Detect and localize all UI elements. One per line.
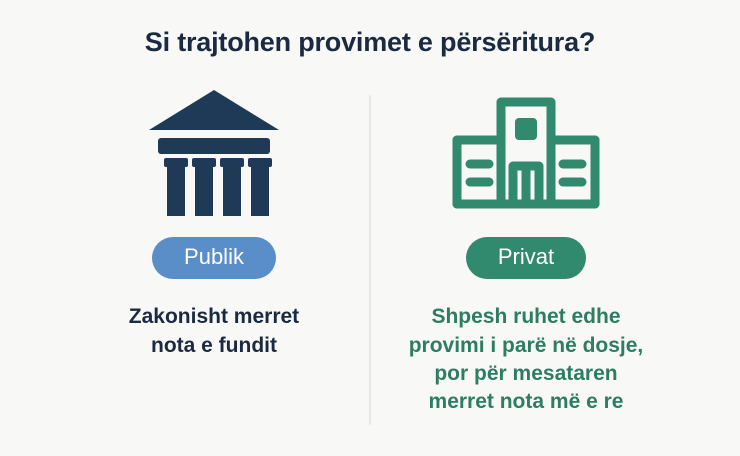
infographic-canvas: Si trajtohen provimet e përsëritura? [0,0,740,456]
private-description: Shpesh ruhet edhe provimi i parë në dosj… [409,303,644,416]
public-description: Zakonisht merret nota e fundit [129,303,299,360]
private-icon-wrapper [451,88,601,216]
page-title: Si trajtohen provimet e përsëritura? [0,26,740,58]
school-building-icon [451,92,601,212]
badge-public: Publik [152,237,276,279]
column-public: Publik Zakonisht merret nota e fundit [34,88,394,360]
public-icon-wrapper [147,88,281,216]
badge-private: Privat [466,237,586,279]
column-private: Privat Shpesh ruhet edhe provimi i parë … [346,88,706,417]
classical-bank-building-icon [147,88,281,216]
